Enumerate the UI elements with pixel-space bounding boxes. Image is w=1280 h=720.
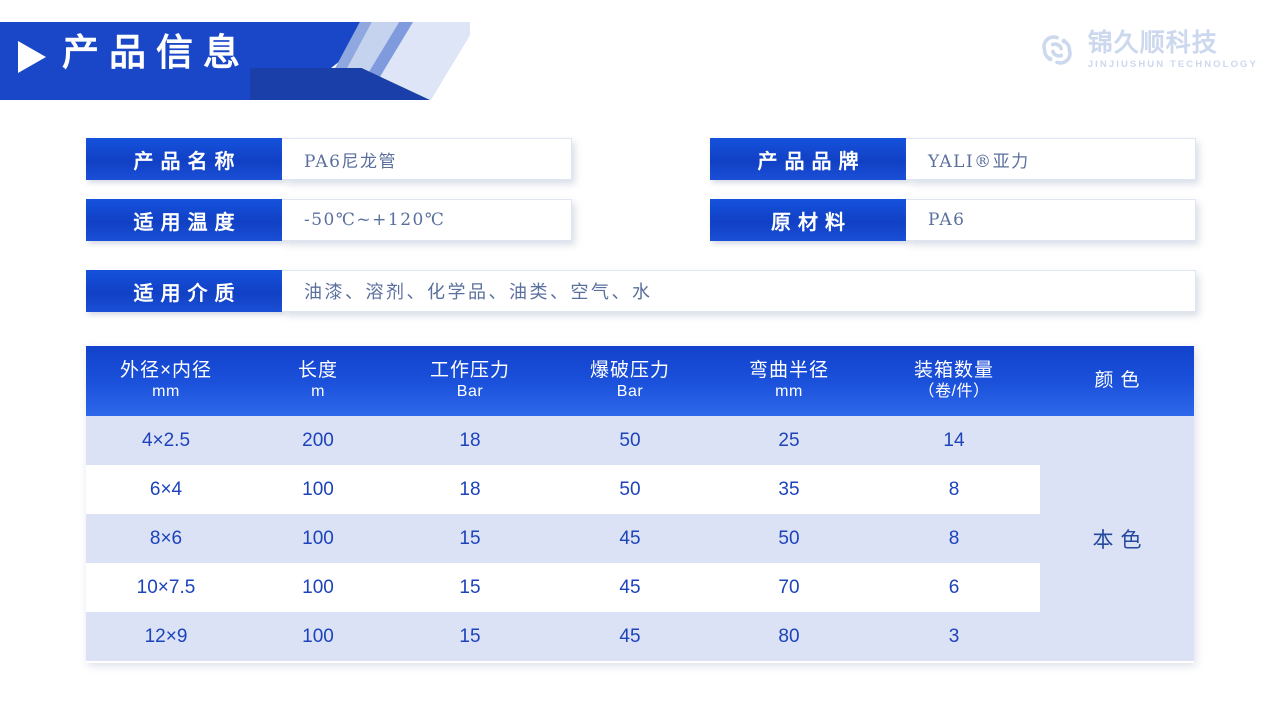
cell-length: 100 (246, 612, 390, 661)
header-title: 装箱数量 (868, 360, 1040, 382)
field-label-temperature-range: 适用温度 (86, 199, 282, 241)
table-header-length: 长度 m (246, 346, 390, 416)
table-row: 8×61001545508 (86, 514, 1194, 563)
field-value-temperature-range[interactable]: -50℃~+120℃ (282, 199, 572, 241)
cell-pack-qty: 3 (868, 612, 1040, 661)
header-unit: mm (710, 382, 868, 402)
header-unit: Bar (550, 382, 710, 402)
cell-bend-radius: 35 (710, 465, 868, 514)
field-label-product-brand: 产品品牌 (710, 138, 906, 180)
cell-size: 10×7.5 (86, 563, 246, 612)
cell-working-pressure: 15 (390, 612, 550, 661)
cell-bend-radius: 70 (710, 563, 868, 612)
cell-size: 12×9 (86, 612, 246, 661)
cell-burst-pressure: 45 (550, 563, 710, 612)
field-value-product-name[interactable]: PA6尼龙管 (282, 138, 572, 180)
header-unit: mm (86, 382, 246, 402)
table-body: 4×2.520018502514本色6×410018503588×6100154… (86, 416, 1194, 661)
cell-burst-pressure: 45 (550, 514, 710, 563)
cell-burst-pressure: 45 (550, 612, 710, 661)
cell-pack-qty: 6 (868, 563, 1040, 612)
header-title: 外径×内径 (86, 360, 246, 382)
cell-bend-radius: 25 (710, 416, 868, 465)
company-logo: 锦久顺科技 JINJIUSHUN TECHNOLOGY (1035, 28, 1258, 72)
cell-length: 100 (246, 514, 390, 563)
table-row: 10×7.51001545706 (86, 563, 1194, 612)
cell-size: 8×6 (86, 514, 246, 563)
table-header-working-pressure: 工作压力 Bar (390, 346, 550, 416)
table-row: 12×91001545803 (86, 612, 1194, 661)
header-title: 颜色 (1040, 370, 1194, 392)
cell-pack-qty: 8 (868, 514, 1040, 563)
table-header-burst-pressure: 爆破压力 Bar (550, 346, 710, 416)
cell-burst-pressure: 50 (550, 465, 710, 514)
cell-size: 4×2.5 (86, 416, 246, 465)
table-row: 4×2.520018502514本色 (86, 416, 1194, 465)
header-unit: Bar (390, 382, 550, 402)
field-value-raw-material[interactable]: PA6 (906, 199, 1196, 241)
table-header-bend-radius: 弯曲半径 mm (710, 346, 868, 416)
cell-length: 100 (246, 563, 390, 612)
table-header-row: 外径×内径 mm 长度 m 工作压力 Bar 爆破压力 Bar 弯曲半径 m (86, 346, 1194, 416)
field-applicable-media: 适用介质 油漆、溶剂、化学品、油类、空气、水 (86, 270, 1196, 312)
table-header-pack-qty: 装箱数量 （卷/件） (868, 346, 1040, 416)
cell-length: 200 (246, 416, 390, 465)
header-unit: m (246, 382, 390, 402)
cell-pack-qty: 14 (868, 416, 1040, 465)
specification-table: 外径×内径 mm 长度 m 工作压力 Bar 爆破压力 Bar 弯曲半径 m (86, 346, 1194, 663)
field-temperature-range: 适用温度 -50℃~+120℃ (86, 199, 572, 241)
field-value-product-brand[interactable]: YALI®亚力 (906, 138, 1196, 180)
cell-pack-qty: 8 (868, 465, 1040, 514)
field-value-applicable-media[interactable]: 油漆、溶剂、化学品、油类、空气、水 (282, 270, 1196, 312)
header-unit: （卷/件） (868, 382, 1040, 402)
cell-working-pressure: 15 (390, 514, 550, 563)
header-title: 工作压力 (390, 360, 550, 382)
field-label-raw-material: 原材料 (710, 199, 906, 241)
table-row: 6×41001850358 (86, 465, 1194, 514)
cell-bend-radius: 80 (710, 612, 868, 661)
cell-bend-radius: 50 (710, 514, 868, 563)
field-label-product-name: 产品名称 (86, 138, 282, 180)
cell-burst-pressure: 50 (550, 416, 710, 465)
cell-color-merged: 本色 (1040, 416, 1194, 661)
table-header-color: 颜色 (1040, 346, 1194, 416)
logo-name-cn: 锦久顺科技 (1088, 30, 1258, 55)
field-product-brand: 产品品牌 YALI®亚力 (710, 138, 1196, 180)
table-header-size: 外径×内径 mm (86, 346, 246, 416)
play-triangle-icon (18, 41, 46, 73)
header-title: 弯曲半径 (710, 360, 868, 382)
cell-length: 100 (246, 465, 390, 514)
field-raw-material: 原材料 PA6 (710, 199, 1196, 241)
field-product-name: 产品名称 PA6尼龙管 (86, 138, 572, 180)
jinjiushun-circular-tech-mark-icon (1035, 28, 1079, 72)
cell-working-pressure: 18 (390, 416, 550, 465)
field-label-applicable-media: 适用介质 (86, 270, 282, 312)
cell-working-pressure: 18 (390, 465, 550, 514)
header-title: 爆破压力 (550, 360, 710, 382)
cell-working-pressure: 15 (390, 563, 550, 612)
page-title: 产品信息 (62, 34, 250, 71)
logo-name-en: JINJIUSHUN TECHNOLOGY (1088, 60, 1258, 70)
cell-size: 6×4 (86, 465, 246, 514)
logo-text-block: 锦久顺科技 JINJIUSHUN TECHNOLOGY (1088, 30, 1258, 70)
header-title: 长度 (246, 360, 390, 382)
